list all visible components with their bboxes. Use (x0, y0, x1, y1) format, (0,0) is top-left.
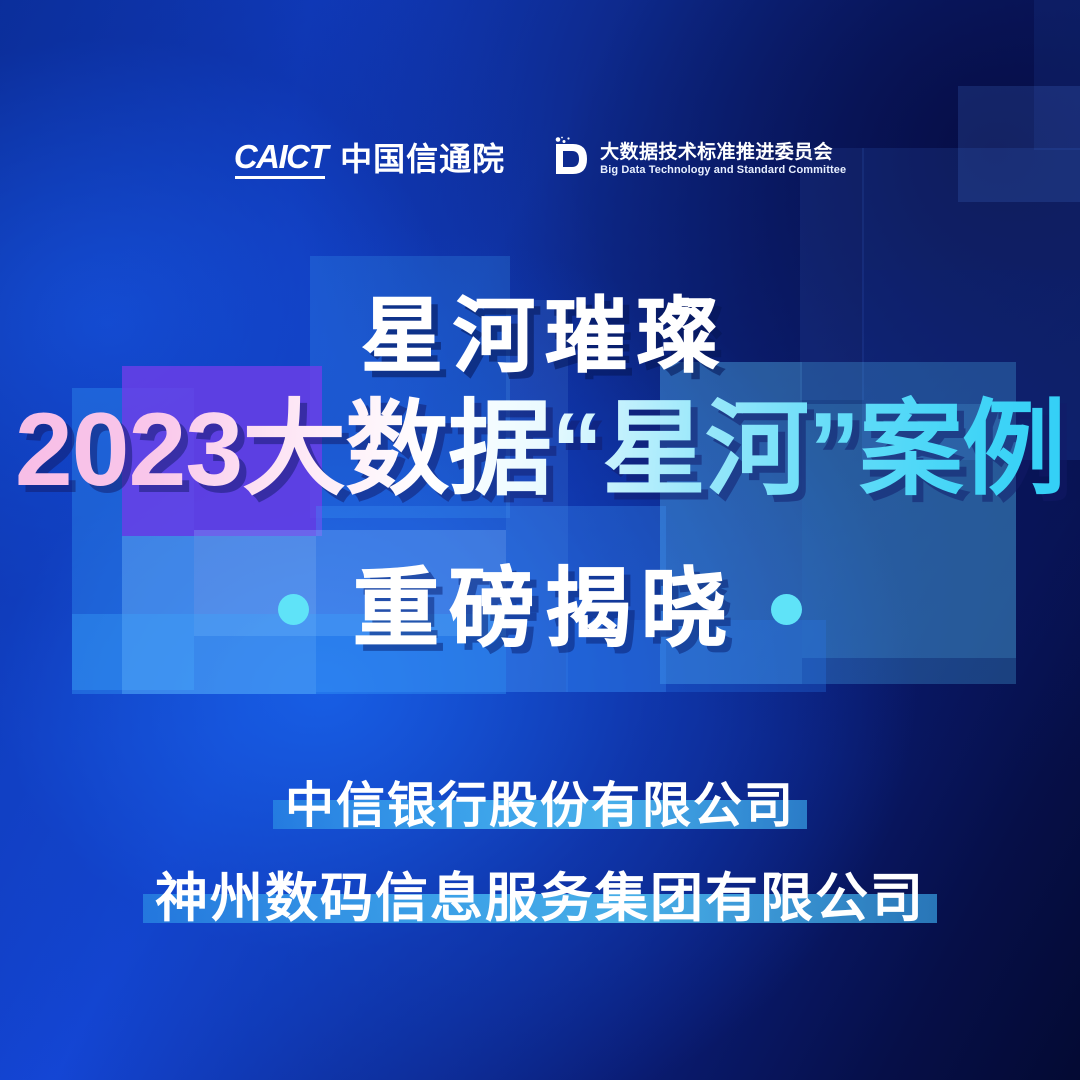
logo-bar: CAICT 中国信通院 大数据技术标准推进委员会 Big Data Techno… (0, 136, 1080, 182)
headline-line-1: 星河璀璨 (0, 296, 1080, 378)
poster-canvas: CAICT 中国信通院 大数据技术标准推进委员会 Big Data Techno… (0, 0, 1080, 1080)
big-data-committee-name-en: Big Data Technology and Standard Committ… (600, 165, 846, 176)
caict-logo: CAICT 中国信通院 (234, 140, 505, 179)
headline-line-3: 重磅揭晓 (343, 566, 737, 652)
headline-line-2-text: 2023大数据“星河”案例 (15, 392, 1065, 508)
recipient-item: 神州数码信息服务集团有限公司 (0, 872, 1080, 925)
stylized-d-sparkle-logo-icon (549, 136, 589, 182)
recipient-item-inner: 中信银行股份有限公司 (285, 782, 795, 831)
bullet-dot-icon-right (771, 594, 802, 625)
recipient-item: 中信银行股份有限公司 (0, 782, 1080, 831)
big-data-committee-logo: 大数据技术标准推进委员会 Big Data Technology and Sta… (549, 136, 846, 182)
recipient-item-inner: 神州数码信息服务集团有限公司 (155, 872, 925, 925)
recipient-name: 神州数码信息服务集团有限公司 (155, 869, 925, 928)
bullet-dot-icon-left (278, 594, 309, 625)
headline-line-3-row: 重磅揭晓 (0, 566, 1080, 652)
big-data-committee-logo-text: 大数据技术标准推进委员会 Big Data Technology and Sta… (600, 143, 846, 176)
headline-line-2: 2023大数据“星河”案例 (0, 398, 1080, 502)
recipient-name: 中信银行股份有限公司 (285, 779, 795, 833)
caict-logo-name-cn: 中国信通院 (340, 143, 505, 175)
caict-wordmark-icon: CAICT (234, 140, 327, 179)
big-data-committee-name-cn: 大数据技术标准推进委员会 (600, 143, 846, 162)
